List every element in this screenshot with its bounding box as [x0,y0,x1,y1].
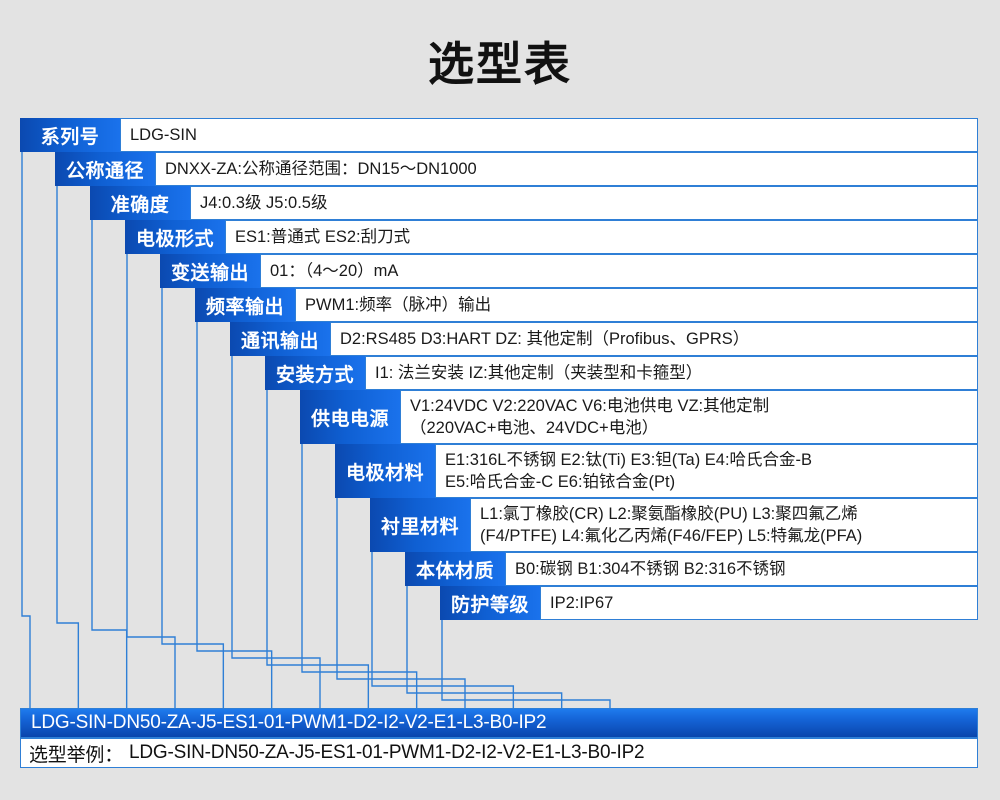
spec-label-5[interactable]: 频率输出 [195,288,295,322]
spec-label-7[interactable]: 安装方式 [265,356,365,390]
connector-line [197,322,272,708]
selection-table-page: 选型表 LDG-SIN系列号DNXX-ZA:公称通径范围：DN15～DN1000… [0,0,1000,800]
connector-line [162,288,223,708]
example-code: LDG-SIN-DN50-ZA-J5-ES1-01-PWM1-D2-I2-V2-… [129,742,644,764]
spec-label-9[interactable]: 电极材料 [335,444,435,498]
spec-label-2[interactable]: 准确度 [90,186,190,220]
connector-line [57,186,78,708]
connector-line [442,620,610,708]
spec-label-1[interactable]: 公称通径 [55,152,155,186]
connector-line [22,152,30,708]
spec-label-8[interactable]: 供电电源 [300,390,400,444]
summary-model-bar: LDG-SIN-DN50-ZA-J5-ES1-01-PWM1-D2-I2-V2-… [20,708,978,738]
spec-label-4[interactable]: 变送输出 [160,254,260,288]
spec-label-0[interactable]: 系列号 [20,118,120,152]
example-bar: 选型举例： LDG-SIN-DN50-ZA-J5-ES1-01-PWM1-D2-… [20,738,978,768]
spec-label-3[interactable]: 电极形式 [125,220,225,254]
connector-line [127,254,175,708]
example-label: 选型举例： [29,740,123,767]
connector-wires [0,0,1000,800]
spec-label-12[interactable]: 防护等级 [440,586,540,620]
spec-label-11[interactable]: 本体材质 [405,552,505,586]
spec-label-6[interactable]: 通讯输出 [230,322,330,356]
connector-line [92,220,127,708]
spec-label-10[interactable]: 衬里材料 [370,498,470,552]
